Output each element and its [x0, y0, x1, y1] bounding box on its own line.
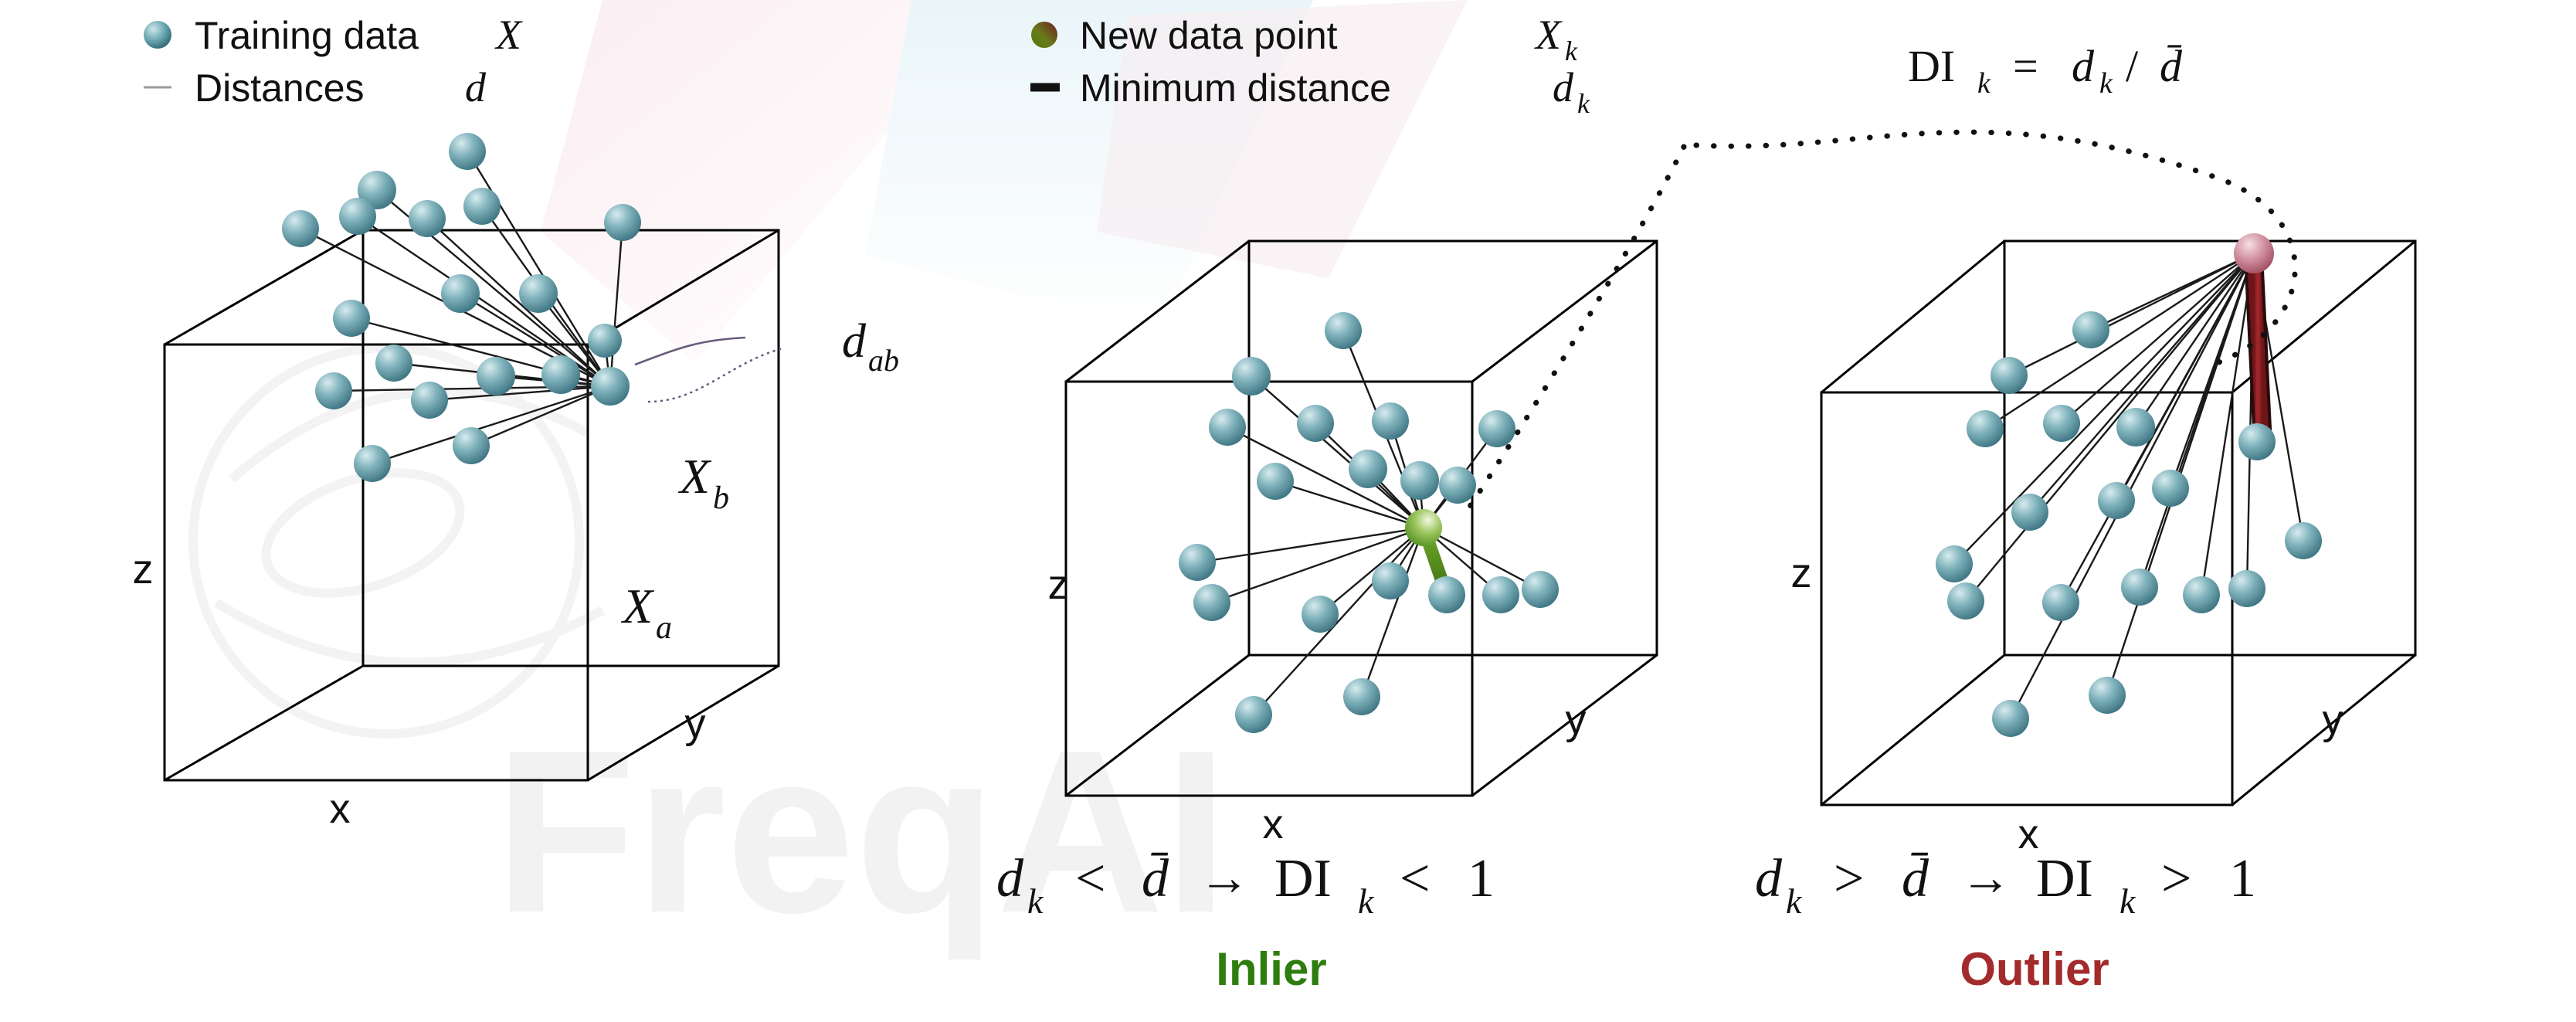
dab-connector [635, 338, 745, 365]
training-point-xb [588, 324, 622, 358]
training-point [1302, 596, 1339, 633]
caption-inlier-di-sub: k [1358, 881, 1375, 921]
training-point [1439, 467, 1476, 504]
new-data-point-outlier [2234, 233, 2274, 273]
annotation-dab: d ab [842, 315, 899, 378]
caption-inlier-rhs-op: < [1400, 849, 1430, 908]
caption-inlier-dbar: d̄ [1142, 849, 1169, 908]
training-point [1325, 312, 1362, 349]
axis-label-z-2: z [1048, 562, 1069, 608]
cube-edge-br-1 [588, 666, 779, 780]
panel-training-data: d ab X b X a z y x [133, 133, 900, 832]
cube-wireframe-1 [165, 230, 779, 780]
training-point [1482, 576, 1519, 613]
training-point [449, 133, 486, 170]
training-point [541, 355, 580, 394]
training-point [2042, 584, 2079, 621]
annotation-xb-sub: b [713, 480, 729, 516]
caption-outlier-op: > [1834, 849, 1864, 908]
connector-dotted-to-inlier [1468, 147, 1684, 510]
axis-label-y-3: y [2323, 697, 2344, 743]
annotation-xa-sub: a [656, 610, 672, 646]
panel-outlier: z y x [1791, 233, 2416, 857]
cube-edge-bl-1 [165, 666, 363, 780]
training-point [2011, 494, 2048, 531]
caption-outlier-value: 1 [2229, 849, 2256, 908]
cube-edge-bl-3 [1821, 655, 2004, 805]
training-point [2098, 482, 2135, 519]
axis-label-y-1: y [685, 701, 706, 747]
new-data-point-inlier [1405, 509, 1442, 546]
training-point [477, 357, 515, 396]
dab-leader-line [649, 349, 780, 402]
cube-edge-bl-2 [1066, 655, 1249, 796]
training-point [2043, 405, 2080, 442]
training-point [2072, 311, 2109, 348]
training-point [1947, 582, 1984, 620]
training-point [519, 274, 558, 313]
cube-front-face-2 [1066, 382, 1472, 796]
caption-inlier-di: DI [1274, 849, 1332, 908]
caption-inlier-arrow-icon: → [1199, 848, 1250, 905]
training-point [463, 188, 501, 225]
annotation-xa-base: X [620, 579, 655, 633]
cube-edge-tr-1 [588, 230, 779, 345]
caption-inlier-op: < [1075, 849, 1105, 908]
training-point [1232, 357, 1271, 396]
panels-layer: d ab X b X a z y x [0, 0, 2576, 1022]
training-point [282, 210, 319, 247]
axis-label-z-3: z [1791, 550, 1812, 596]
axis-label-x-1: x [330, 786, 351, 832]
cube-edge-tl-1 [165, 230, 363, 345]
training-point [441, 274, 480, 313]
training-point [411, 382, 448, 419]
cube-edge-br-2 [1472, 655, 1657, 796]
training-point-nearest [2238, 423, 2276, 460]
cube-front-face-3 [1821, 392, 2232, 805]
training-point [1372, 402, 1409, 440]
training-point [375, 345, 412, 382]
training-point [453, 427, 490, 464]
training-point [354, 445, 391, 482]
caption-outlier-di: DI [2036, 849, 2093, 908]
cube-edge-tl-2 [1066, 241, 1249, 382]
training-point [2285, 522, 2322, 559]
training-point [1936, 545, 1973, 582]
training-point [2152, 470, 2189, 507]
verdict-inlier: Inlier [1216, 943, 1326, 995]
annotation-dab-base: d [842, 315, 867, 368]
training-point [1257, 463, 1294, 500]
verdict-outlier: Outlier [1960, 943, 2109, 995]
caption-inlier-dk-sub: k [1027, 881, 1044, 921]
training-point-nearest [1428, 576, 1465, 613]
training-point [1967, 410, 2004, 447]
panel-inlier: z y x [1048, 241, 1658, 847]
training-point [1992, 700, 2029, 737]
figure-canvas: FreqAI Training data X Distances d New d [0, 0, 2576, 1022]
axis-label-z-1: z [133, 546, 154, 592]
training-point [1372, 562, 1409, 599]
training-point [2228, 570, 2265, 607]
caption-inlier-dk: d [996, 849, 1024, 908]
cube-front-face-1 [165, 345, 588, 780]
annotation-xb: X b [677, 449, 729, 516]
training-points-2 [1179, 312, 1559, 733]
training-point [315, 372, 352, 409]
caption-equation-inlier: d k < d̄ → DI k < 1 [996, 848, 1495, 921]
caption-outlier-dk-sub: k [1786, 881, 1803, 921]
caption-inlier-value: 1 [1468, 849, 1495, 908]
training-point [1193, 584, 1230, 621]
training-point [1991, 357, 2028, 394]
training-point [2116, 408, 2155, 446]
axis-label-y-2: y [1566, 697, 1587, 743]
annotation-dab-sub: ab [868, 343, 899, 378]
annotation-xa: X a [620, 579, 672, 646]
training-point [1179, 544, 1216, 581]
training-point [2121, 569, 2158, 606]
caption-outlier-di-sub: k [2120, 881, 2136, 921]
training-point-xa [591, 367, 630, 406]
training-point [333, 300, 370, 337]
caption-outlier-dk: d [1755, 849, 1783, 908]
annotation-xb-base: X [677, 449, 712, 504]
training-point [409, 200, 446, 237]
cube-back-face-1 [363, 230, 779, 666]
cube-edge-tl-3 [1821, 241, 2004, 392]
caption-outlier-rhs-op: > [2161, 849, 2191, 908]
training-point [1297, 405, 1334, 442]
training-point [1400, 461, 1439, 500]
caption-outlier-dbar: d̄ [1902, 849, 1929, 908]
training-point [604, 204, 641, 241]
axis-label-x-2: x [1263, 801, 1284, 847]
training-point [1209, 409, 1246, 446]
caption-equation-outlier: d k > d̄ → DI k > 1 [1755, 848, 2256, 921]
training-point [1349, 450, 1387, 488]
minimum-distance-segment-outlier [2254, 263, 2262, 436]
training-point [2183, 576, 2220, 613]
caption-outlier-arrow-icon: → [1960, 848, 2011, 905]
training-point [1522, 571, 1559, 608]
training-point [1235, 696, 1272, 733]
training-point [1343, 678, 1380, 715]
training-point [2089, 677, 2126, 714]
training-point [339, 198, 376, 235]
training-point [1478, 410, 1515, 447]
